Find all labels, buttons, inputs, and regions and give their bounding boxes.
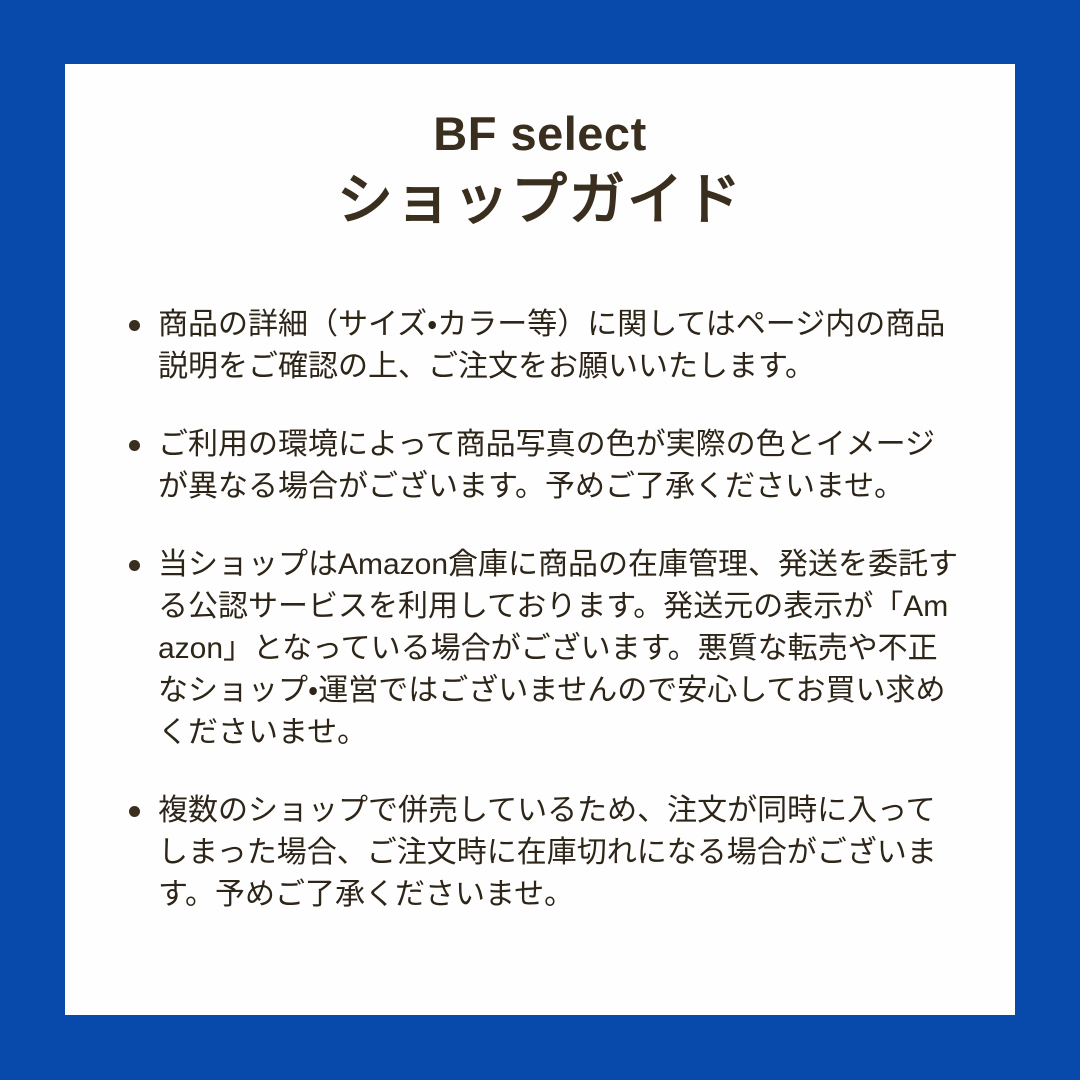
note-text: 当ショップはAmazon倉庫に商品の在庫管理、発送を委託する公認サービスを利用し… <box>158 544 963 754</box>
bullet-dot-icon <box>129 560 140 571</box>
note-text: 複数のショップで併売しているため、注文が同時に入ってしまった場合、ご注文時に在庫… <box>158 790 963 916</box>
list-item: 商品の詳細（サイズ・カラー等）に関してはページ内の商品説明をご確認の上、ご注文を… <box>65 304 1015 388</box>
bullet-dot-icon <box>129 320 140 331</box>
note-text: 商品の詳細（サイズ・カラー等）に関してはページ内の商品説明をご確認の上、ご注文を… <box>158 304 963 388</box>
title-brand: BF select <box>65 107 1015 162</box>
list-item: ご利用の環境によって商品写真の色が実際の色とイメージが異なる場合がございます。予… <box>65 424 1015 508</box>
bullet-dot-icon <box>129 806 140 817</box>
note-text: ご利用の環境によって商品写真の色が実際の色とイメージが異なる場合がございます。予… <box>158 424 963 508</box>
list-item: 当ショップはAmazon倉庫に商品の在庫管理、発送を委託する公認サービスを利用し… <box>65 544 1015 754</box>
list-item: 複数のショップで併売しているため、注文が同時に入ってしまった場合、ご注文時に在庫… <box>65 790 1015 916</box>
page-title: BF select ショップガイド <box>65 64 1015 232</box>
title-subtitle: ショップガイド <box>65 168 1015 233</box>
bullet-dot-icon <box>129 440 140 451</box>
notes-list: 商品の詳細（サイズ・カラー等）に関してはページ内の商品説明をご確認の上、ご注文を… <box>65 304 1015 916</box>
guide-card: BF select ショップガイド 商品の詳細（サイズ・カラー等）に関してはペー… <box>65 64 1015 1015</box>
guide-page: BF select ショップガイド 商品の詳細（サイズ・カラー等）に関してはペー… <box>0 0 1080 1080</box>
